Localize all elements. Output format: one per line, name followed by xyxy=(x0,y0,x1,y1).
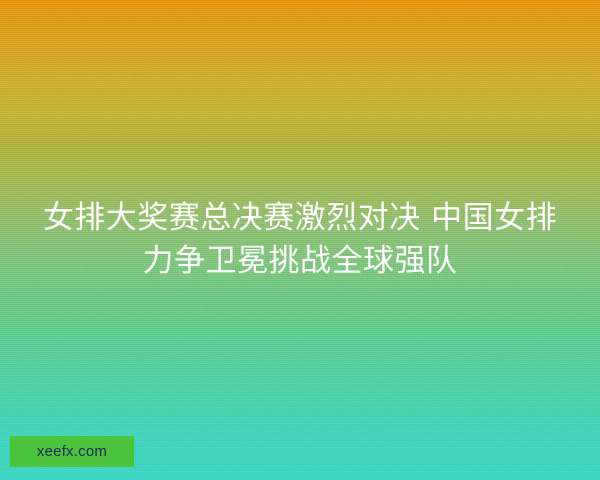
watermark-badge: xeefx.com xyxy=(10,436,134,467)
banner-image: 女排大奖赛总决赛激烈对决 中国女排力争卫冕挑战全球强队 xeefx.com xyxy=(0,0,600,480)
gradient-background xyxy=(0,0,600,480)
watermark-label: xeefx.com xyxy=(37,444,107,459)
